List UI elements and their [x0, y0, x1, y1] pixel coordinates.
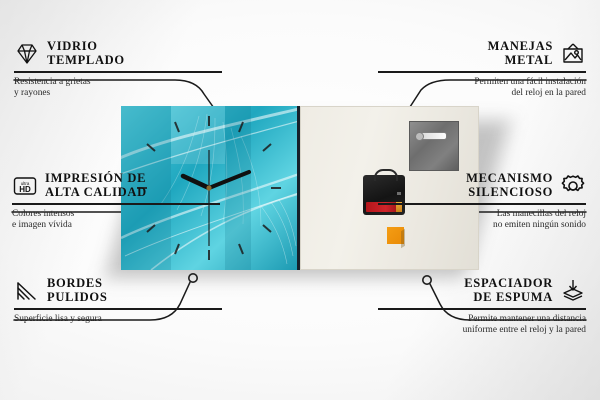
feature-espaciador-espuma[interactable]: ESPACIADOR DE ESPUMA Permite mantener un…	[378, 277, 586, 336]
foam-spacer-icon	[560, 278, 586, 304]
feature-desc: Permiten una fácil instalación del reloj…	[378, 77, 586, 100]
divider	[378, 308, 586, 310]
feature-title: VIDRIO TEMPLADO	[47, 40, 125, 67]
divider	[14, 308, 222, 310]
polished-edge-icon	[14, 278, 40, 304]
infographic-canvas: VIDRIO TEMPLADO Resistencia a grietas y …	[0, 0, 600, 400]
feature-desc: Superficie lisa y segura	[14, 314, 222, 325]
feature-vidrio-templado[interactable]: VIDRIO TEMPLADO Resistencia a grietas y …	[14, 40, 222, 99]
divider	[12, 203, 220, 205]
feature-bordes-pulidos[interactable]: BORDES PULIDOS Superficie lisa y segura	[14, 277, 222, 325]
feature-impresion-alta-calidad[interactable]: ultra HD IMPRESIÓN DE ALTA CALIDAD Color…	[12, 172, 220, 231]
svg-text:HD: HD	[19, 185, 31, 194]
feature-desc: Las manecillas del reloj no emiten ningú…	[378, 209, 586, 232]
gear-icon	[560, 173, 586, 199]
picture-hanger-icon	[560, 41, 586, 67]
feature-title: MECANISMO SILENCIOSO	[466, 172, 553, 199]
feature-desc: Colores intensos e imagen vívida	[12, 209, 220, 232]
feature-title: MANEJAS METAL	[488, 40, 553, 67]
divider	[378, 71, 586, 73]
feature-title: BORDES PULIDOS	[47, 277, 107, 304]
metal-hanger-plate	[409, 121, 459, 171]
feature-desc: Resistencia a grietas y rayones	[14, 77, 222, 100]
feature-manejas-metal[interactable]: MANEJAS METAL Permiten una fácil instala…	[378, 40, 586, 99]
feature-desc: Permite mantener una distancia uniforme …	[378, 314, 586, 337]
feature-title: ESPACIADOR DE ESPUMA	[464, 277, 553, 304]
feature-title: IMPRESIÓN DE ALTA CALIDAD	[45, 172, 147, 199]
hanger-keyhole-slot	[419, 132, 447, 140]
feature-mecanismo-silencioso[interactable]: MECANISMO SILENCIOSO Las manecillas del …	[378, 172, 586, 231]
divider	[14, 71, 222, 73]
ultra-hd-icon: ultra HD	[12, 173, 38, 199]
diamond-icon	[14, 41, 40, 67]
divider	[378, 203, 586, 205]
